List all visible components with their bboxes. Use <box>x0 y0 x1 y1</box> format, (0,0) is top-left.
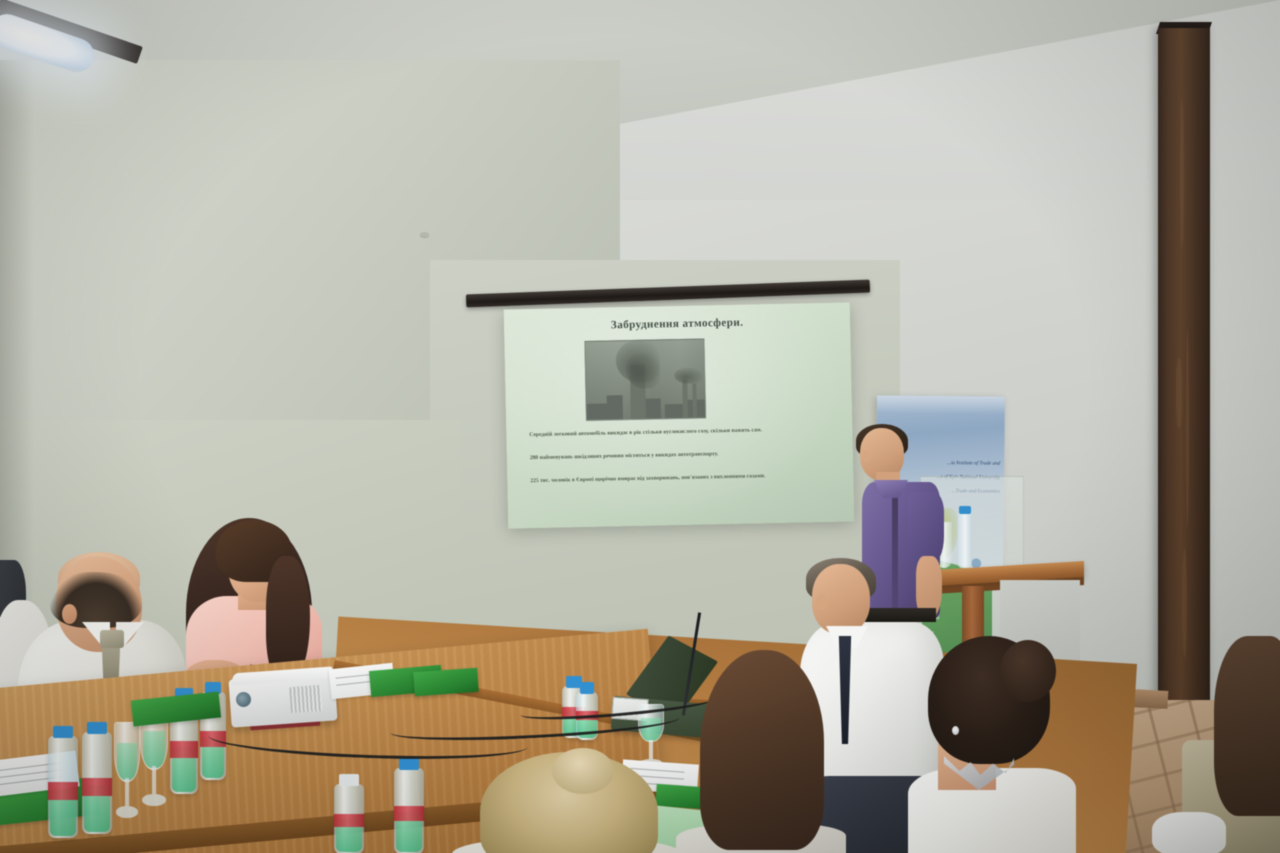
wooden-support-beam <box>1158 28 1210 728</box>
water-bottle <box>394 758 424 853</box>
water-bottle <box>82 722 112 834</box>
p6-hair <box>700 650 824 850</box>
p5-hair-bun <box>552 748 614 794</box>
p3-ear <box>816 594 828 610</box>
p7-hair <box>1214 636 1280 816</box>
slide-smokestack-photo <box>584 338 706 420</box>
p4-hair-bun <box>1000 640 1056 702</box>
presenter-shirt-placket <box>892 488 898 614</box>
projection-screen: Забруднення атмосфери. Середній легковий… <box>504 302 855 528</box>
banner-line-1: ...ia Institute of Trade and <box>947 460 1000 467</box>
smoke-detector-icon <box>420 232 429 237</box>
projector-vent-grille <box>289 685 323 713</box>
p4-earring <box>952 726 959 735</box>
presenter-sleeve <box>908 492 944 566</box>
banner-fold-highlight <box>877 395 1005 414</box>
water-bottle <box>334 774 364 853</box>
drinking-glass <box>114 722 140 818</box>
conference-room-photo: Забруднення атмосфери. Середній легковий… <box>0 0 1280 853</box>
white-bag <box>1152 812 1226 853</box>
lectern-bottle-cap <box>959 506 971 514</box>
p1-tie-knot <box>100 630 124 648</box>
presenter-belt <box>864 608 936 622</box>
presenter-ear <box>862 450 871 462</box>
lectern-water-bottle <box>958 512 972 568</box>
green-folder <box>413 668 479 696</box>
water-bottle <box>48 726 78 838</box>
p1-ear <box>62 604 77 624</box>
